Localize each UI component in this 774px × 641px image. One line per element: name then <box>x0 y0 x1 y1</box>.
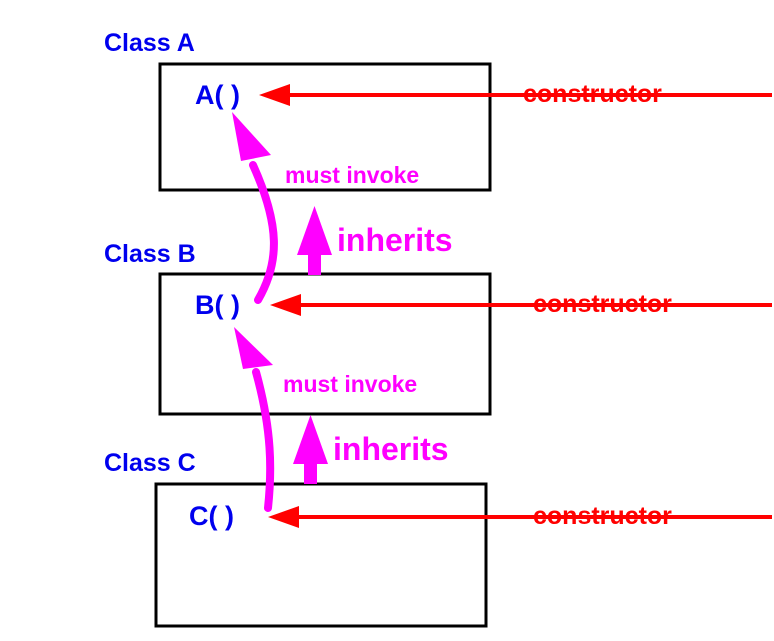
must-invoke-label-b-to-a: must invoke <box>285 164 419 187</box>
inherits-arrow-b-to-a <box>297 206 332 275</box>
constructor-annotation-c: constructor <box>533 504 672 529</box>
must-invoke-curve-b-to-a <box>232 112 274 300</box>
must-invoke-curve-c-to-b <box>234 327 273 508</box>
constructor-annotation-a: constructor <box>523 82 662 107</box>
inherits-arrow-c-to-b <box>293 415 328 484</box>
inherits-label-c-to-b: inherits <box>333 433 449 465</box>
inherits-label-b-to-a: inherits <box>337 224 453 256</box>
class-b-label: Class B <box>104 242 196 267</box>
must-invoke-label-c-to-b: must invoke <box>283 373 417 396</box>
class-c-constructor-label: C( ) <box>189 503 234 530</box>
class-b-constructor-label: B( ) <box>195 292 240 319</box>
class-a-label: Class A <box>104 31 195 56</box>
constructor-arrow-a <box>259 84 772 106</box>
constructor-arrow-c <box>268 506 772 528</box>
diagram-canvas: Class A A( ) constructor must invoke inh… <box>0 0 774 641</box>
constructor-annotation-b: constructor <box>533 292 672 317</box>
class-a-constructor-label: A( ) <box>195 82 240 109</box>
constructor-arrow-b <box>270 294 772 316</box>
class-c-label: Class C <box>104 451 196 476</box>
